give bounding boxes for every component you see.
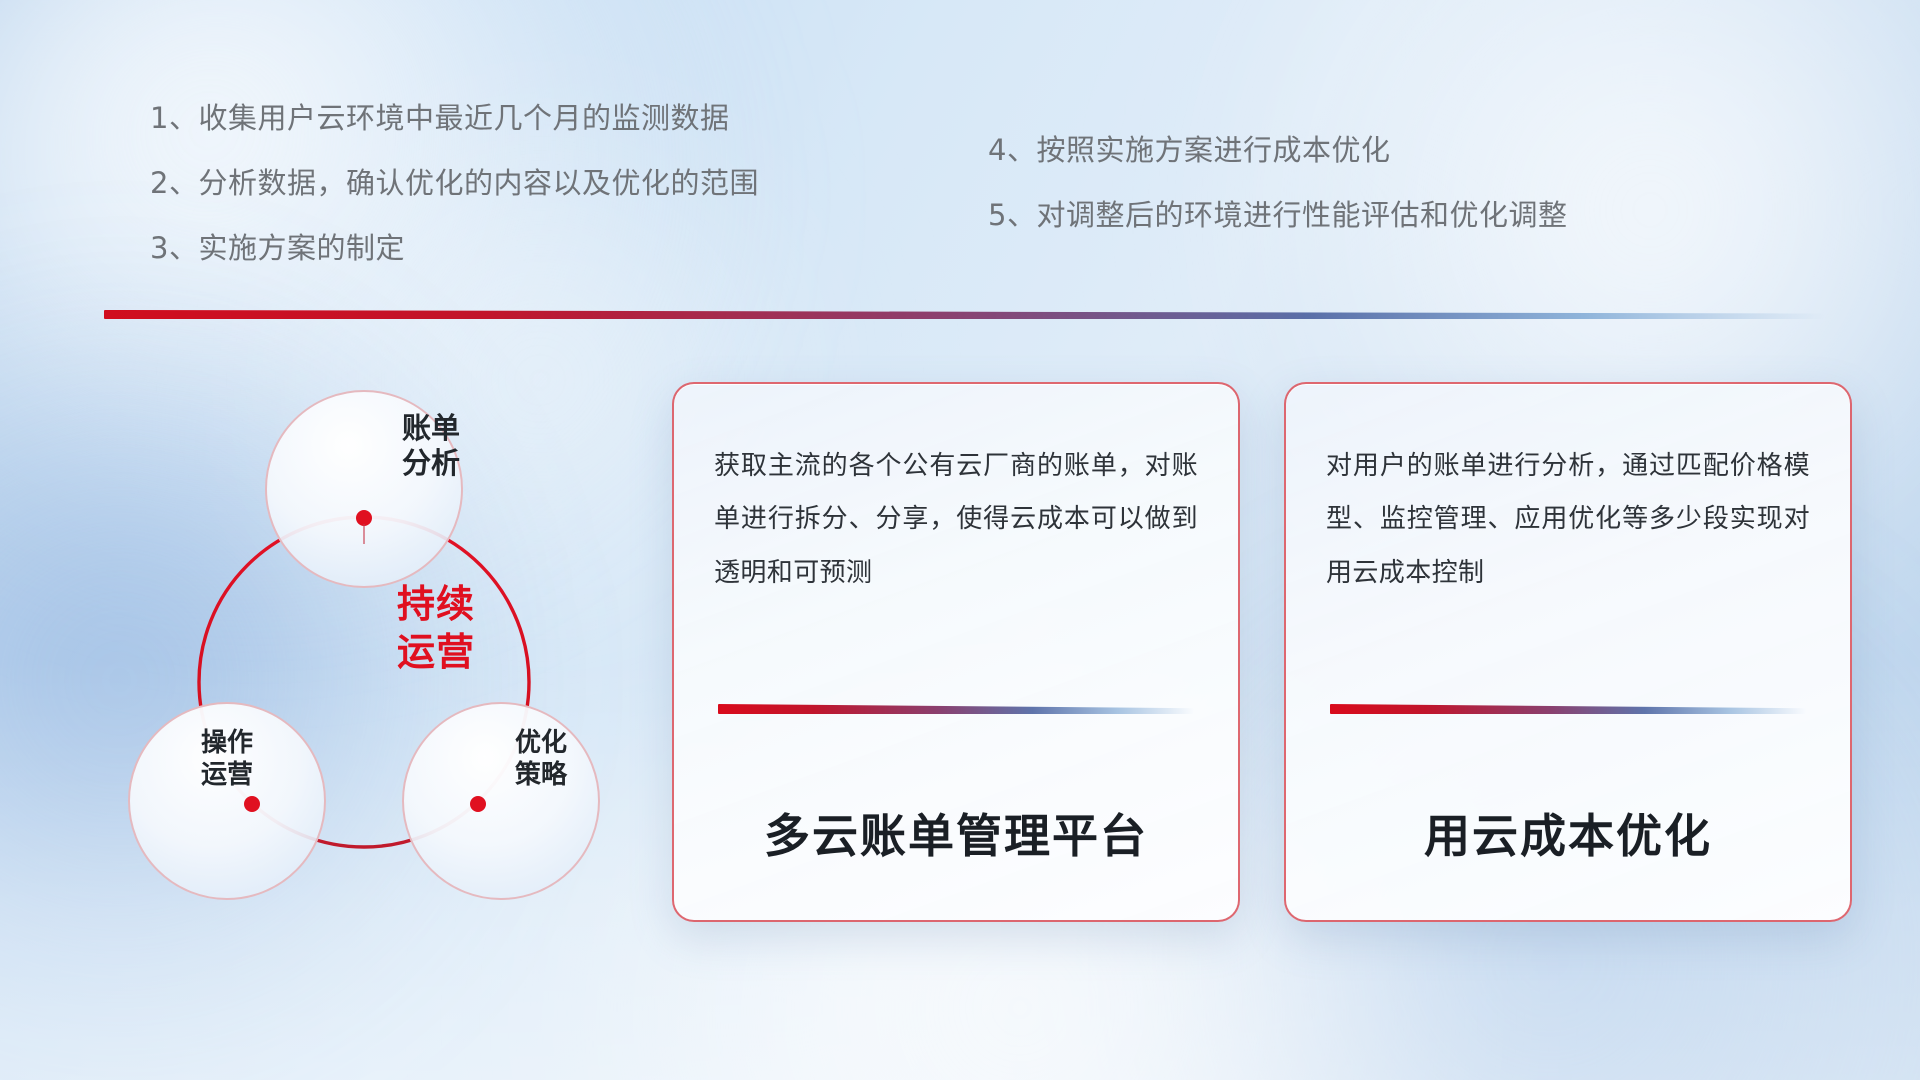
card-title: 多云账单管理平台 [714, 800, 1198, 866]
card-divider-gradient-bar [1330, 704, 1806, 714]
card-divider [1330, 704, 1806, 714]
card-body-text: 获取主流的各个公有云厂商的账单，对账单进行拆分、分享，使得云成本可以做到透明和可… [714, 440, 1198, 678]
card-divider-gradient-bar [718, 704, 1194, 714]
cards-section: 获取主流的各个公有云厂商的账单，对账单进行拆分、分享，使得云成本可以做到透明和可… [0, 0, 1920, 1080]
card-title: 用云成本优化 [1326, 800, 1810, 866]
card-body-text: 对用户的账单进行分析，通过匹配价格模型、监控管理、应用优化等多少段实现对用云成本… [1326, 440, 1810, 678]
card-divider [718, 704, 1194, 714]
card-multi-cloud-billing-platform[interactable]: 获取主流的各个公有云厂商的账单，对账单进行拆分、分享，使得云成本可以做到透明和可… [672, 382, 1240, 922]
card-cloud-cost-optimization[interactable]: 对用户的账单进行分析，通过匹配价格模型、监控管理、应用优化等多少段实现对用云成本… [1284, 382, 1852, 922]
